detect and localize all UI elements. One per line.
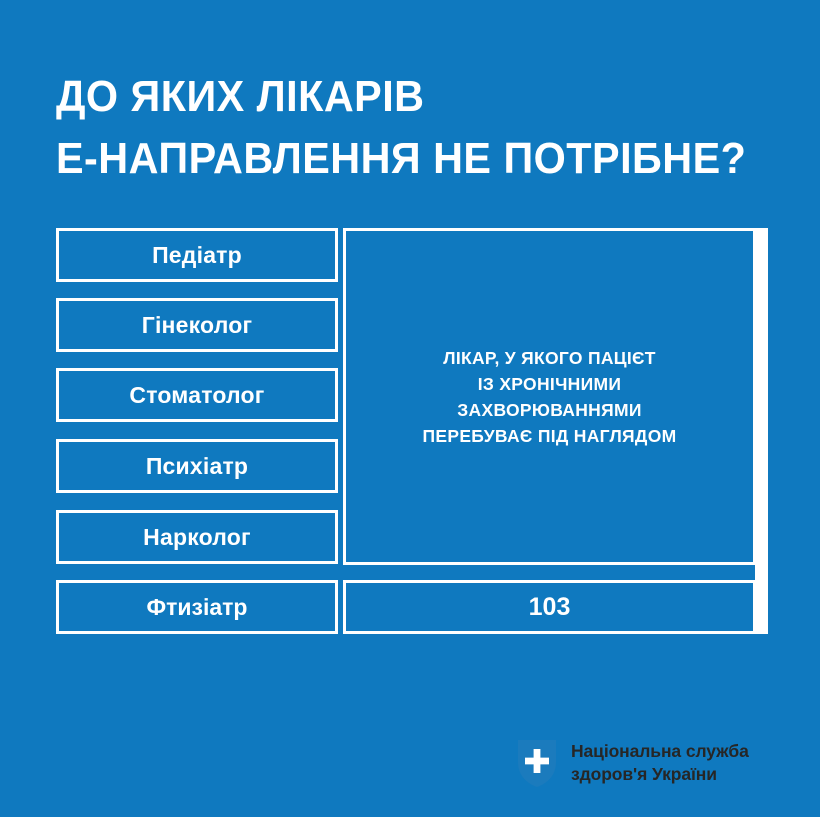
table-top-section: Педіатр Гінеколог Стоматолог Психіатр На… [56,228,756,565]
emergency-number-cell: 103 [343,580,756,634]
table-row: Психіатр [56,439,338,493]
poster-canvas: ДО ЯКИХ ЛІКАРІВ Е-НАПРАВЛЕННЯ НЕ ПОТРІБН… [0,0,820,817]
logo-text-line-2: здоров'я України [571,763,749,786]
merged-note-panel: ЛІКАР, У ЯКОГО ПАЦІЄТ ІЗ ХРОНІЧНИМИ ЗАХВ… [343,228,756,565]
doctor-label: Фтизіатр [147,594,248,621]
doctor-label: Стоматолог [129,382,264,409]
doctors-table: Педіатр Гінеколог Стоматолог Психіатр На… [56,228,768,638]
doctor-label: Психіатр [146,453,248,480]
table-row: Нарколог [56,510,338,564]
shield-cross-icon [516,738,558,788]
page-title: ДО ЯКИХ ЛІКАРІВ Е-НАПРАВЛЕННЯ НЕ ПОТРІБН… [56,66,786,190]
title-line-2: Е-НАПРАВЛЕННЯ НЕ ПОТРІБНЕ? [56,128,742,190]
emergency-number: 103 [529,593,571,622]
table-row: Педіатр [56,228,338,282]
logo-text-line-1: Національна служба [571,740,749,763]
organization-logo: Національна служба здоров'я України [516,738,749,788]
doctor-label-cell: Фтизіатр [56,580,338,634]
note-line-4: ПЕРЕБУВАЄ ПІД НАГЛЯДОМ [423,423,677,449]
table-row: Гінеколог [56,298,338,352]
title-line-1: ДО ЯКИХ ЛІКАРІВ [56,66,742,128]
doctor-label: Педіатр [152,242,242,269]
doctor-label: Нарколог [143,524,251,551]
table-row-last: Фтизіатр 103 [56,580,756,634]
note-line-1: ЛІКАР, У ЯКОГО ПАЦІЄТ [443,345,656,371]
logo-text: Національна служба здоров'я України [571,740,749,786]
doctors-column: Педіатр Гінеколог Стоматолог Психіатр На… [56,228,338,565]
doctor-label: Гінеколог [142,312,253,339]
note-line-2: ІЗ ХРОНІЧНИМИ [478,371,621,397]
right-edge-accent-bar [755,228,768,634]
table-row: Стоматолог [56,368,338,422]
note-line-3: ЗАХВОРЮВАННЯМИ [457,397,641,423]
